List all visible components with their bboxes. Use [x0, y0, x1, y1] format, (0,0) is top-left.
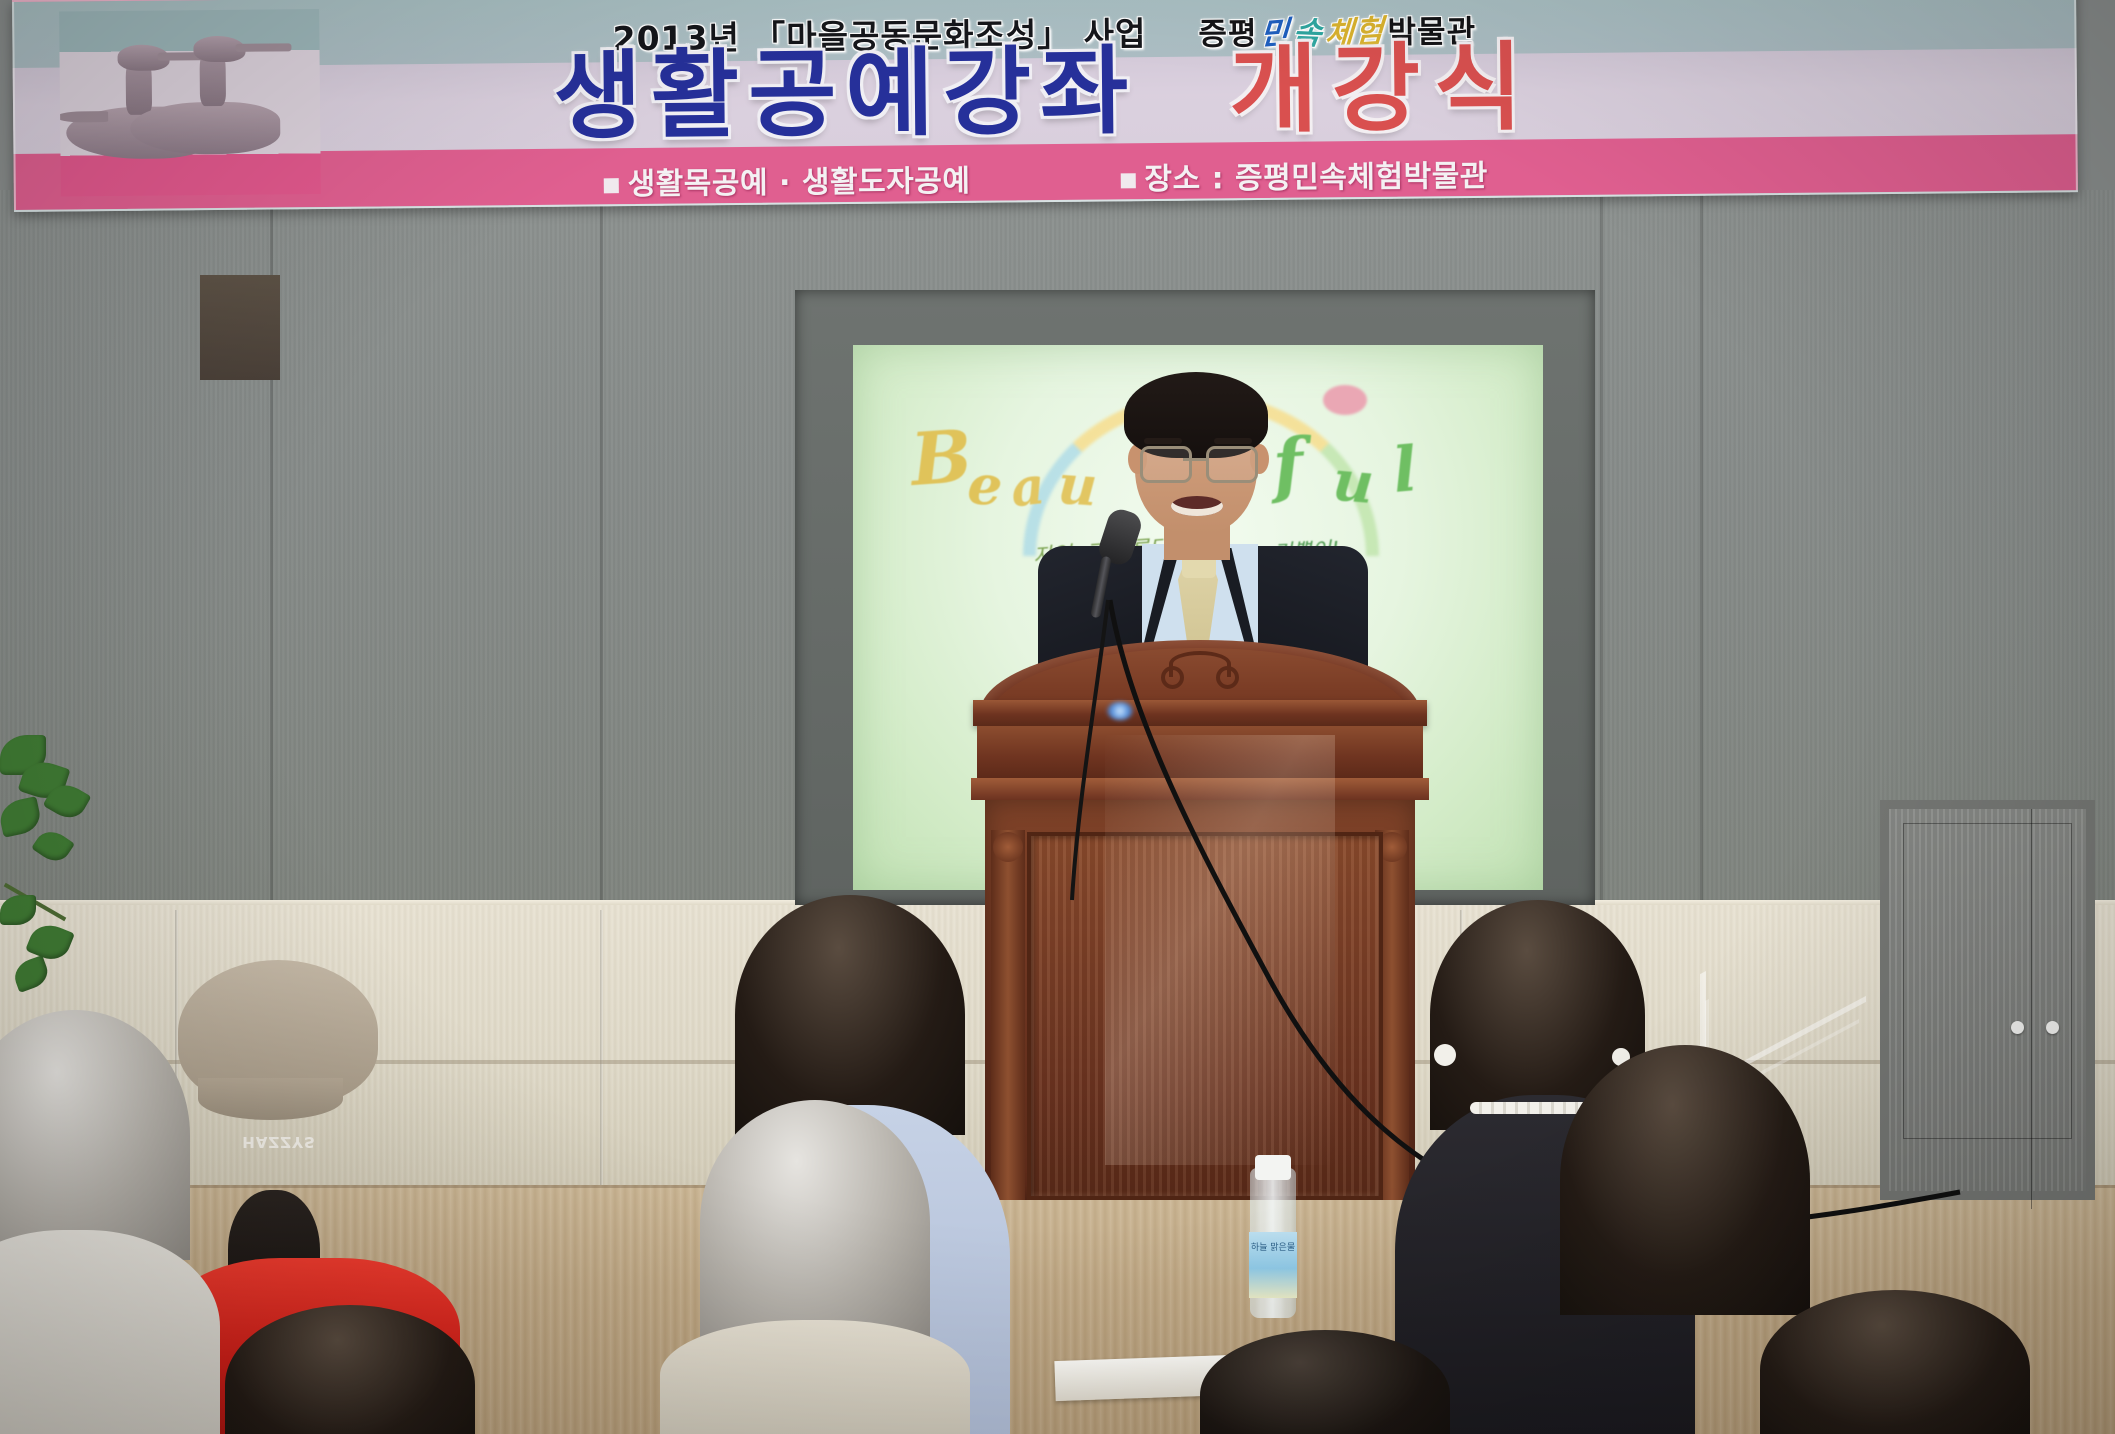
podium-molding	[971, 778, 1429, 800]
eyeglasses-bridge	[1183, 458, 1209, 461]
event-banner: 2013년 「마을공동문화조성」 사업 증평민속체험박물관 생활공예강좌 개강식…	[12, 0, 2078, 212]
door-knob-icon[interactable]	[2011, 1021, 2024, 1034]
indicator-light-icon	[1107, 702, 1133, 720]
cap-brand-label: HAZZYS	[236, 1133, 322, 1151]
mouth	[1171, 496, 1223, 516]
wall-seam	[600, 190, 603, 910]
banner-footer-right: 장소 : 증평민속체험박물관	[1120, 151, 1488, 199]
banner-title-row: 생활공예강좌 개강식	[15, 34, 2076, 152]
banner-footer-left-text: 생활목공예 · 생활도자공예	[627, 164, 970, 202]
audience-head	[1560, 1045, 1810, 1315]
eyeglasses-left-lens	[1140, 446, 1192, 483]
wainscot-seam	[600, 910, 603, 1205]
banner-footer-right-text: 장소 : 증평민속체험박물관	[1144, 159, 1488, 197]
podium-frieze	[977, 726, 1423, 778]
slide-letter-B: B	[908, 413, 975, 502]
bullet-square-icon	[1120, 173, 1135, 188]
wall-beam	[200, 275, 280, 380]
banner-title-accent: 개강식	[1229, 39, 1537, 140]
pearl-earring-icon	[1434, 1044, 1456, 1066]
scroll-carving-icon	[1169, 651, 1231, 677]
audience-head	[700, 1100, 930, 1345]
wall-seam	[1700, 190, 1703, 910]
podium-column-left	[991, 830, 1025, 1200]
banner-title-main: 생활공예강좌	[553, 43, 1138, 147]
banner-footer-left: 생활목공예 · 생활도자공예	[603, 156, 970, 204]
slide-letter-l: l	[1390, 432, 1420, 507]
bottle-cap-icon	[1255, 1155, 1291, 1180]
side-door[interactable]	[1880, 800, 2095, 1200]
podium-front-panel	[1027, 832, 1383, 1200]
cap-brim	[198, 1078, 343, 1120]
audience-shoulders	[660, 1320, 970, 1434]
door-panel	[1903, 823, 2072, 1139]
photo-canvas: B e a u t i f u l 자연, 그 아름다움 증평 기쁨이!	[0, 0, 2115, 1434]
eyeglasses-right-lens	[1206, 446, 1258, 483]
slide-letter-e: e	[965, 452, 1005, 519]
bullet-square-icon	[604, 178, 619, 193]
podium	[985, 640, 1415, 1200]
podium-cap-molding	[973, 700, 1427, 726]
rosette-icon	[993, 832, 1023, 862]
eyebrow-left	[1144, 438, 1182, 444]
audience-head	[735, 895, 965, 1135]
wall-seam	[1600, 190, 1603, 910]
bottle-label: 하늘 맑은물	[1249, 1232, 1297, 1298]
door-knob-icon[interactable]	[2046, 1021, 2059, 1034]
door-split	[2031, 809, 2032, 1209]
eyebrow-right	[1214, 438, 1252, 444]
